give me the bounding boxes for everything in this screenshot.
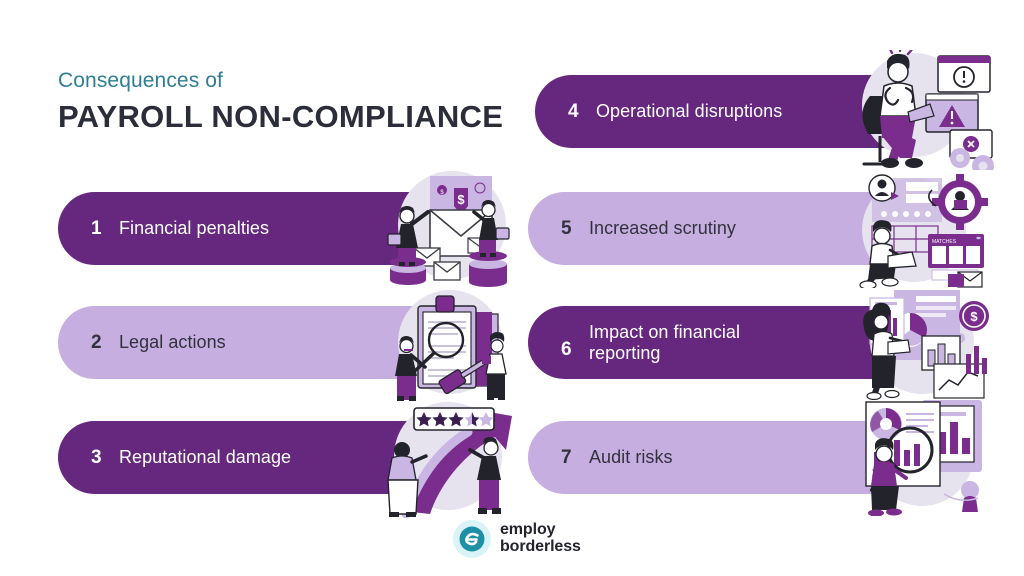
svg-text:MATCHES: MATCHES <box>932 239 957 245</box>
list-item-legal-actions[interactable]: 2 Legal actions <box>58 306 446 379</box>
card-number: 4 <box>568 102 584 121</box>
list-item-increased-scrutiny[interactable]: 5 Increased scrutiny <box>528 192 923 265</box>
list-item-audit-risks[interactable]: 7 Audit risks <box>528 421 923 494</box>
svg-text:$: $ <box>970 309 978 324</box>
card-number: 1 <box>91 219 107 238</box>
card-number: 3 <box>91 448 107 467</box>
brand-logo: employ borderless <box>452 519 581 559</box>
svg-text:$: $ <box>958 337 962 343</box>
brand-line-2: borderless <box>500 539 581 556</box>
svg-text:$: $ <box>457 192 465 207</box>
list-item-operational-disruptions[interactable]: 4 Operational disruptions <box>535 75 928 148</box>
card-label: Increased scrutiny <box>589 218 736 239</box>
list-item-reputational-damage[interactable]: 3 Reputational damage <box>58 421 446 494</box>
card-label: Impact on financial reporting <box>589 322 740 364</box>
page-title: Consequences of PAYROLL NON-COMPLIANCE <box>58 68 503 138</box>
card-number: 2 <box>91 333 107 352</box>
card-label: Operational disruptions <box>596 101 782 122</box>
brand-line-1: employ <box>500 522 581 539</box>
card-label: Reputational damage <box>119 447 291 468</box>
card-number: 5 <box>561 219 577 238</box>
svg-text:$: $ <box>440 190 444 196</box>
card-number: 6 <box>561 340 577 359</box>
employ-borderless-e-mark-icon <box>452 519 492 559</box>
list-item-impact-on-financial-reporting[interactable]: 6 Impact on financial reporting <box>528 306 923 379</box>
title-main: PAYROLL NON-COMPLIANCE <box>58 97 503 137</box>
card-number: 7 <box>561 448 577 467</box>
brand-wordmark: employ borderless <box>500 522 581 556</box>
infographic-canvas: Consequences of PAYROLL NON-COMPLIANCE 1… <box>0 0 1024 576</box>
card-label: Audit risks <box>589 447 673 468</box>
title-eyebrow: Consequences of <box>58 68 503 94</box>
card-label: Financial penalties <box>119 218 269 239</box>
list-item-financial-penalties[interactable]: 1 Financial penalties <box>58 192 446 265</box>
card-label: Legal actions <box>119 332 226 353</box>
